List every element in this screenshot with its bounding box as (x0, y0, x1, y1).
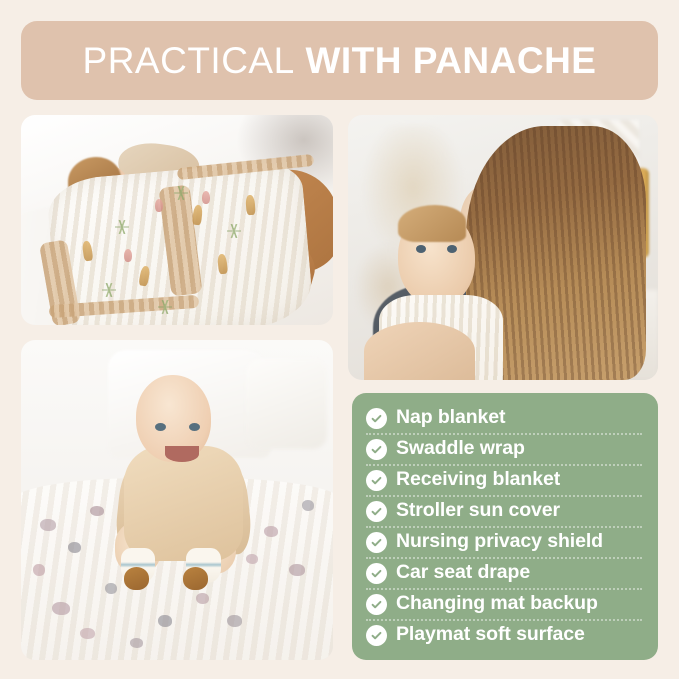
feature-item-label: Changing mat backup (396, 594, 598, 614)
baby-eye-left (416, 245, 426, 253)
photo-scene-1 (21, 115, 333, 325)
baby-shoe-left (124, 567, 149, 589)
feature-item: Swaddle wrap (366, 434, 644, 465)
check-circle-icon (366, 532, 387, 553)
baby-mouth (165, 446, 199, 462)
feature-item-label: Receiving blanket (396, 470, 560, 490)
palm-motif (174, 186, 188, 200)
animal-motif (40, 519, 56, 531)
palm-motif (227, 224, 241, 238)
page-title-light: PRACTICAL (83, 40, 295, 81)
animal-motif (264, 526, 278, 537)
animal-motif (289, 564, 305, 576)
baby-shoe-right (183, 567, 208, 589)
feature-item: Car seat drape (366, 558, 644, 589)
feature-item-label: Nursing privacy shield (396, 532, 603, 552)
pillow (246, 359, 327, 449)
feature-item-label: Playmat soft surface (396, 625, 585, 645)
palm-motif (115, 220, 129, 234)
photo-scene-3 (21, 340, 333, 660)
flamingo-motif (202, 191, 210, 204)
feature-item: Playmat soft surface (366, 620, 644, 651)
animal-motif (90, 506, 104, 516)
animal-motif (246, 554, 258, 564)
feature-item-label: Swaddle wrap (396, 439, 525, 459)
check-circle-icon (366, 408, 387, 429)
animal-motif (80, 628, 95, 639)
flamingo-motif (124, 249, 132, 262)
photo-scene-2 (348, 115, 658, 380)
photo-baby-sitting-on-blanket (21, 340, 333, 660)
baby-hair (398, 205, 466, 242)
animal-motif (130, 638, 143, 648)
photo-mother-kissing-baby (348, 115, 658, 380)
check-circle-icon (366, 470, 387, 491)
check-circle-icon (366, 439, 387, 460)
feature-item-label: Car seat drape (396, 563, 530, 583)
check-circle-icon (366, 501, 387, 522)
infographic-canvas: PRACTICAL WITH PANACHE (0, 0, 679, 679)
feature-item-label: Nap blanket (396, 408, 505, 428)
page-title: PRACTICAL WITH PANACHE (83, 42, 597, 79)
header-banner: PRACTICAL WITH PANACHE (21, 21, 658, 100)
animal-motif (158, 615, 172, 627)
check-circle-icon (366, 625, 387, 646)
baby-eye-right (447, 245, 457, 253)
feature-item: Receiving blanket (366, 465, 644, 496)
animal-motif (227, 615, 242, 627)
feature-item: Stroller sun cover (366, 496, 644, 527)
feature-list-panel: Nap blanketSwaddle wrapReceiving blanket… (352, 393, 658, 660)
photo-baby-lying-with-giraffe-blanket (21, 115, 333, 325)
animal-motif (105, 583, 117, 594)
feature-item: Nap blanket (366, 403, 644, 434)
feature-item: Nursing privacy shield (366, 527, 644, 558)
palm-motif (102, 283, 116, 297)
feature-item-label: Stroller sun cover (396, 501, 560, 521)
check-circle-icon (366, 563, 387, 584)
animal-motif (33, 564, 45, 576)
mother-arm (364, 322, 476, 380)
animal-motif (52, 602, 70, 615)
palm-motif (158, 300, 172, 314)
flamingo-motif (155, 199, 163, 212)
animal-motif (68, 542, 81, 553)
animal-motif (196, 593, 209, 604)
feature-item: Changing mat backup (366, 589, 644, 620)
animal-motif (302, 500, 314, 511)
baby-bodysuit (124, 446, 243, 561)
giraffe-motif (245, 195, 255, 216)
check-circle-icon (366, 594, 387, 615)
page-title-bold: WITH PANACHE (305, 40, 596, 81)
